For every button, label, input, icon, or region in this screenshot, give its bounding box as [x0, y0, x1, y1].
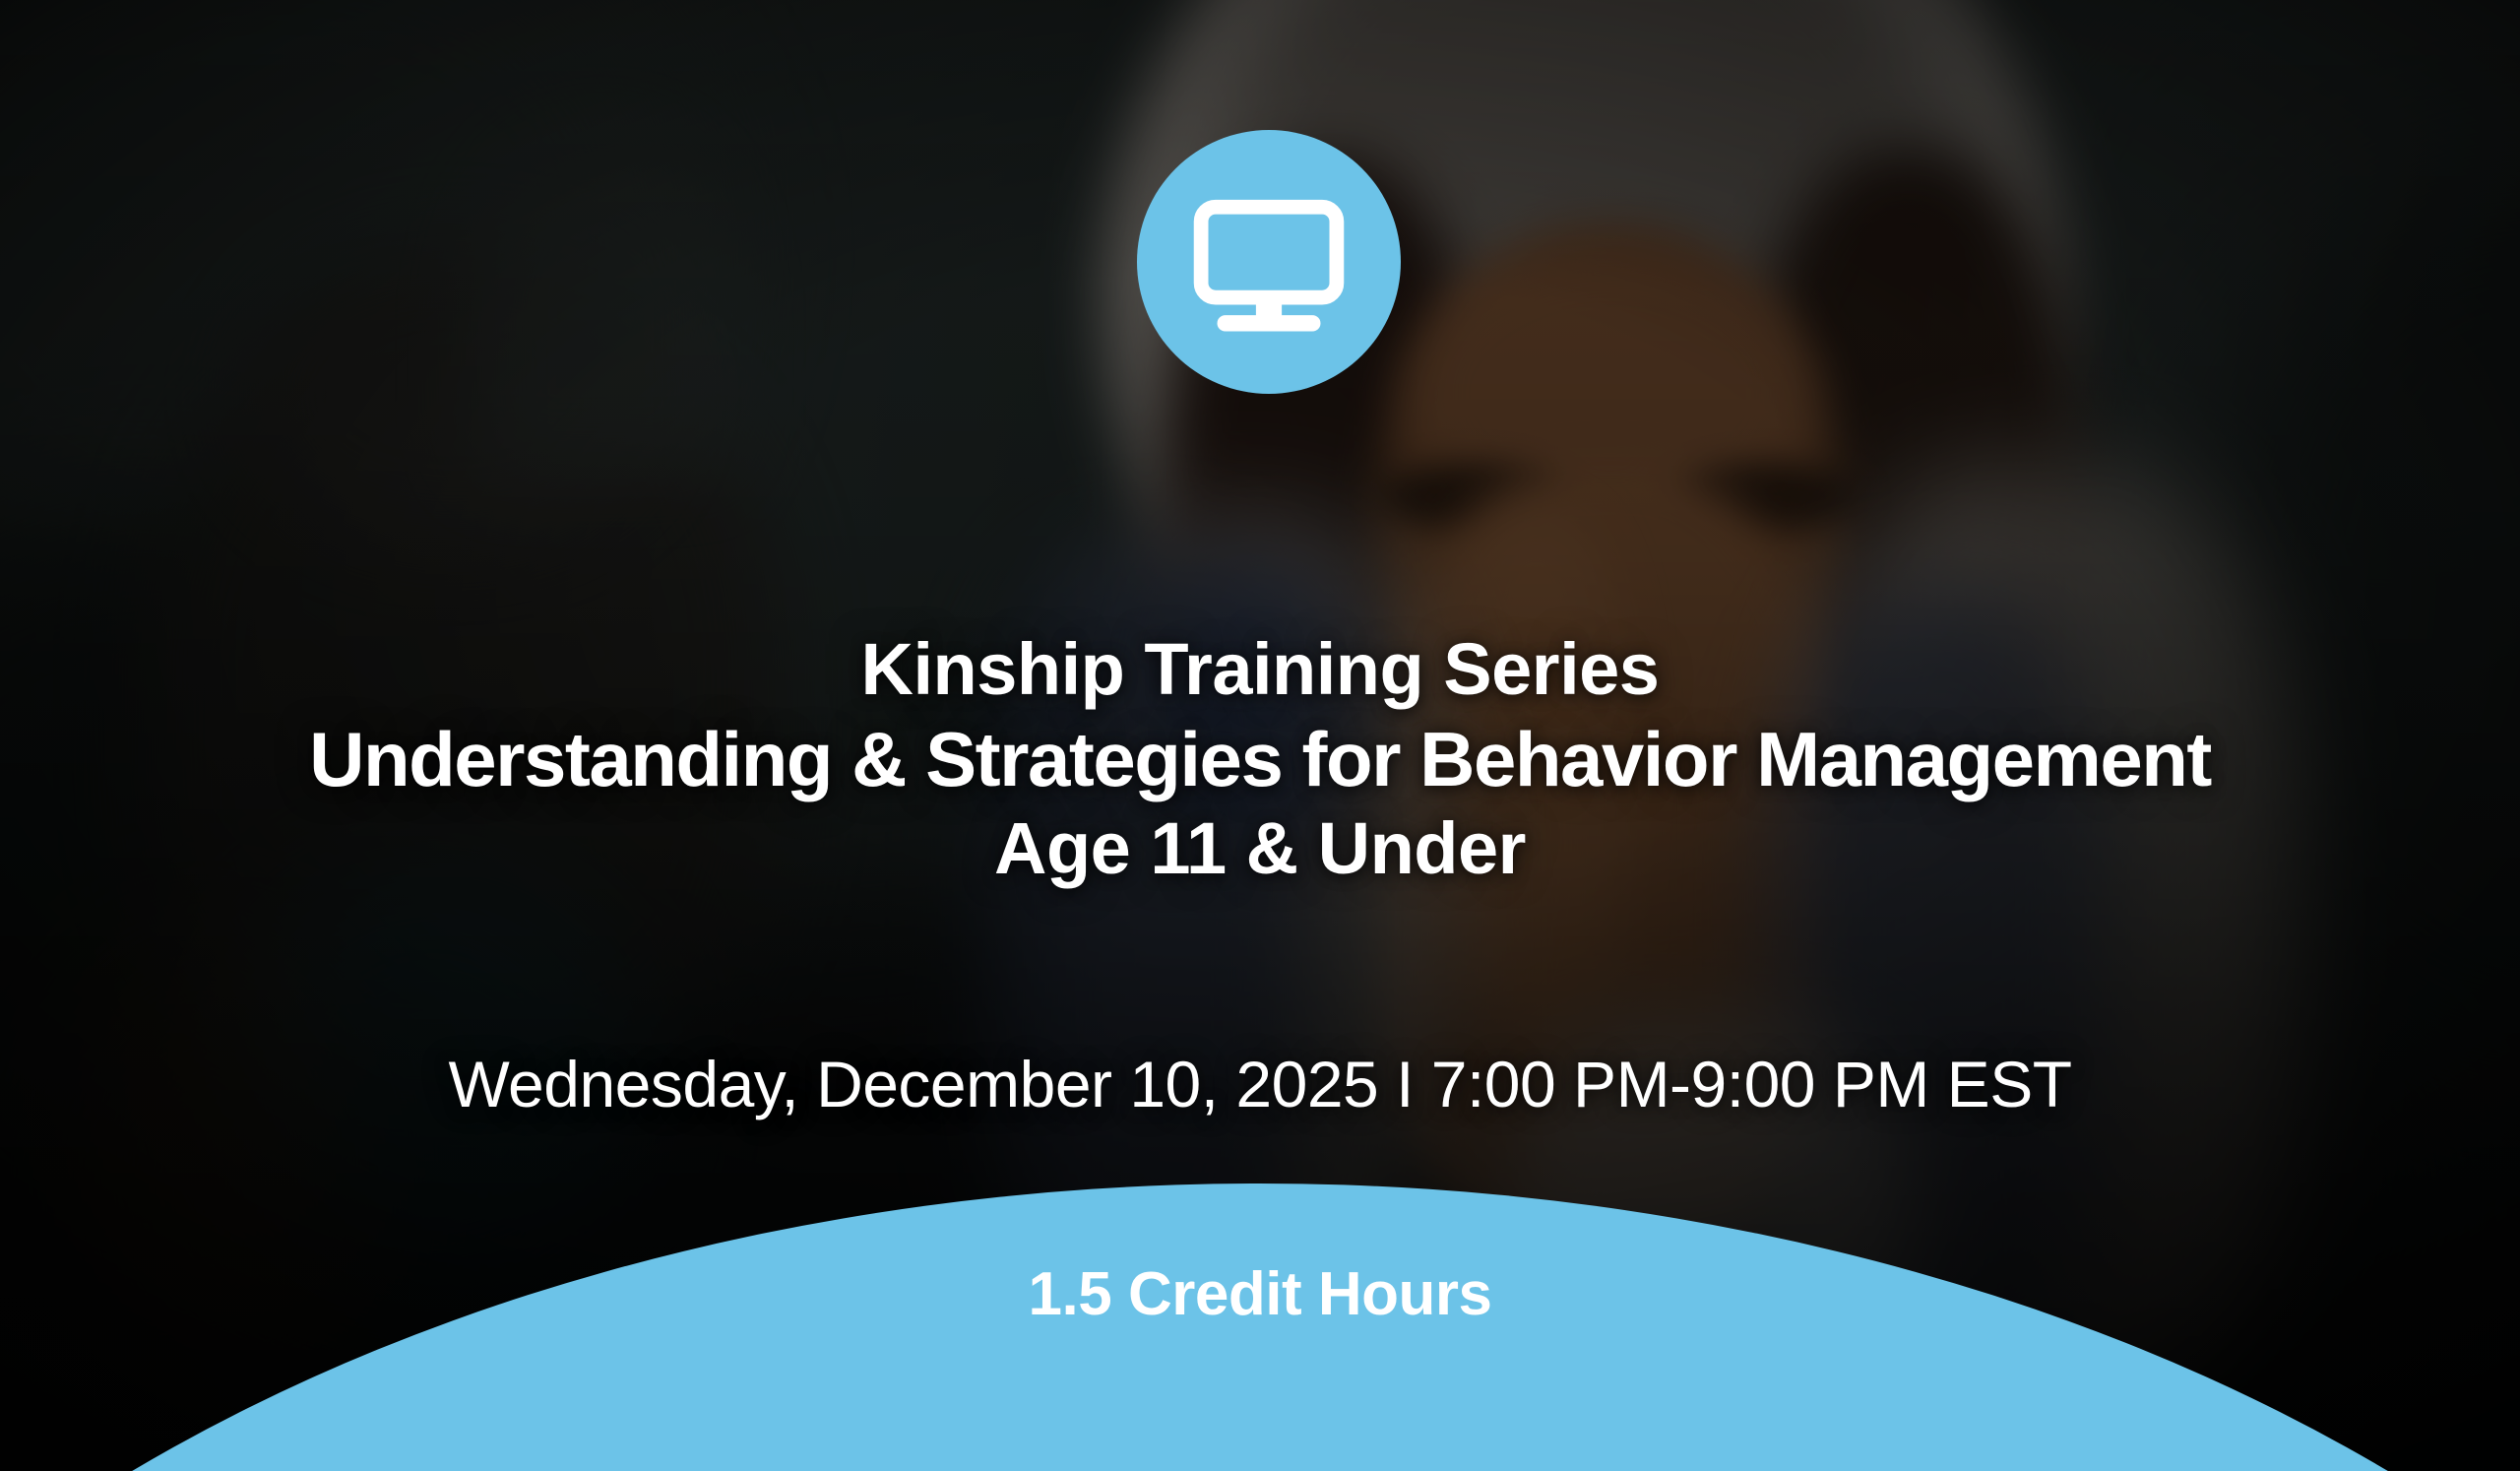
promo-banner: Kinship Training Series Understanding & …: [0, 0, 2520, 1471]
schedule-line: Wednesday, December 10, 2025 I 7:00 PM-9…: [0, 1047, 2520, 1121]
headline-line-3: Age 11 & Under: [39, 805, 2481, 893]
desktop-monitor-icon: [1188, 181, 1350, 343]
headline-block: Kinship Training Series Understanding & …: [0, 626, 2520, 893]
headline-line-2: Understanding & Strategies for Behavior …: [39, 714, 2481, 806]
webinar-badge: [1137, 130, 1401, 394]
credit-hours-label: 1.5 Credit Hours: [0, 1259, 2520, 1329]
headline-line-1: Kinship Training Series: [39, 626, 2481, 714]
